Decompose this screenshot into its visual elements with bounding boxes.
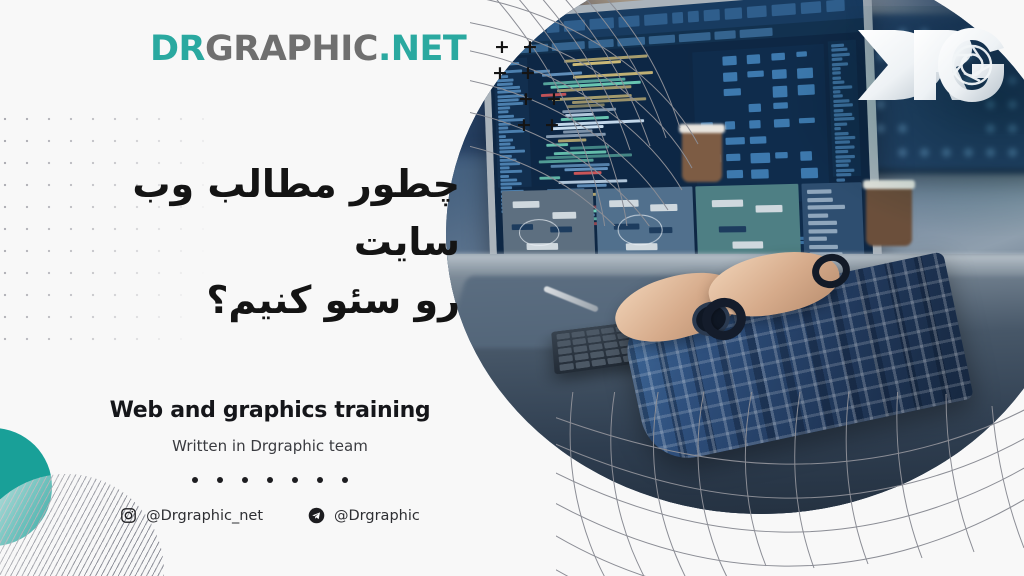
instagram-handle: @Drgraphic_net bbox=[146, 508, 263, 524]
instagram-icon bbox=[120, 507, 137, 524]
coffee-cup bbox=[682, 130, 722, 182]
headline-line-2: رو سئو کنیم؟ bbox=[40, 272, 460, 330]
logo-letter-g bbox=[938, 28, 1004, 102]
brand-logo[interactable]: DRGRAPHIC.NET bbox=[150, 32, 466, 67]
social-link-instagram[interactable]: @Drgraphic_net bbox=[120, 507, 263, 524]
separator-dot bbox=[292, 477, 298, 483]
headline-line-1: چطور مطالب وب سایت bbox=[40, 156, 460, 272]
edge-fade bbox=[998, 0, 1024, 576]
node-diagram-cell bbox=[596, 186, 696, 263]
logo-text-net: .NET bbox=[378, 29, 466, 69]
separator-dot bbox=[342, 477, 348, 483]
separator-dot bbox=[217, 477, 223, 483]
logo-text-graphic: GRAPHIC bbox=[205, 29, 378, 69]
footer-block: Web and graphics training Written in Drg… bbox=[0, 398, 540, 524]
brand-logo-text: DRGRAPHIC.NET bbox=[150, 32, 466, 67]
separator-dot bbox=[267, 477, 273, 483]
dot-separator bbox=[0, 477, 540, 483]
footer-title: Web and graphics training bbox=[0, 398, 540, 423]
slide-canvas: DRGRAPHIC.NET چطور مطالب وب سایت رو سئو … bbox=[0, 0, 1024, 576]
drg-watermark-logo bbox=[852, 22, 1012, 108]
separator-dot bbox=[242, 477, 248, 483]
page-title: چطور مطالب وب سایت رو سئو کنیم؟ bbox=[40, 156, 460, 329]
left-content-panel: DRGRAPHIC.NET چطور مطالب وب سایت رو سئو … bbox=[0, 0, 600, 576]
social-links: @Drgraphic_net @Drgraphic bbox=[0, 507, 540, 524]
separator-dot bbox=[192, 477, 198, 483]
social-link-telegram[interactable]: @Drgraphic bbox=[308, 507, 420, 524]
logo-text-dr: DR bbox=[150, 29, 205, 69]
telegram-icon bbox=[308, 507, 325, 524]
separator-dot bbox=[317, 477, 323, 483]
telegram-handle: @Drgraphic bbox=[334, 508, 420, 524]
footer-subtitle: Written in Drgraphic team bbox=[0, 437, 540, 455]
